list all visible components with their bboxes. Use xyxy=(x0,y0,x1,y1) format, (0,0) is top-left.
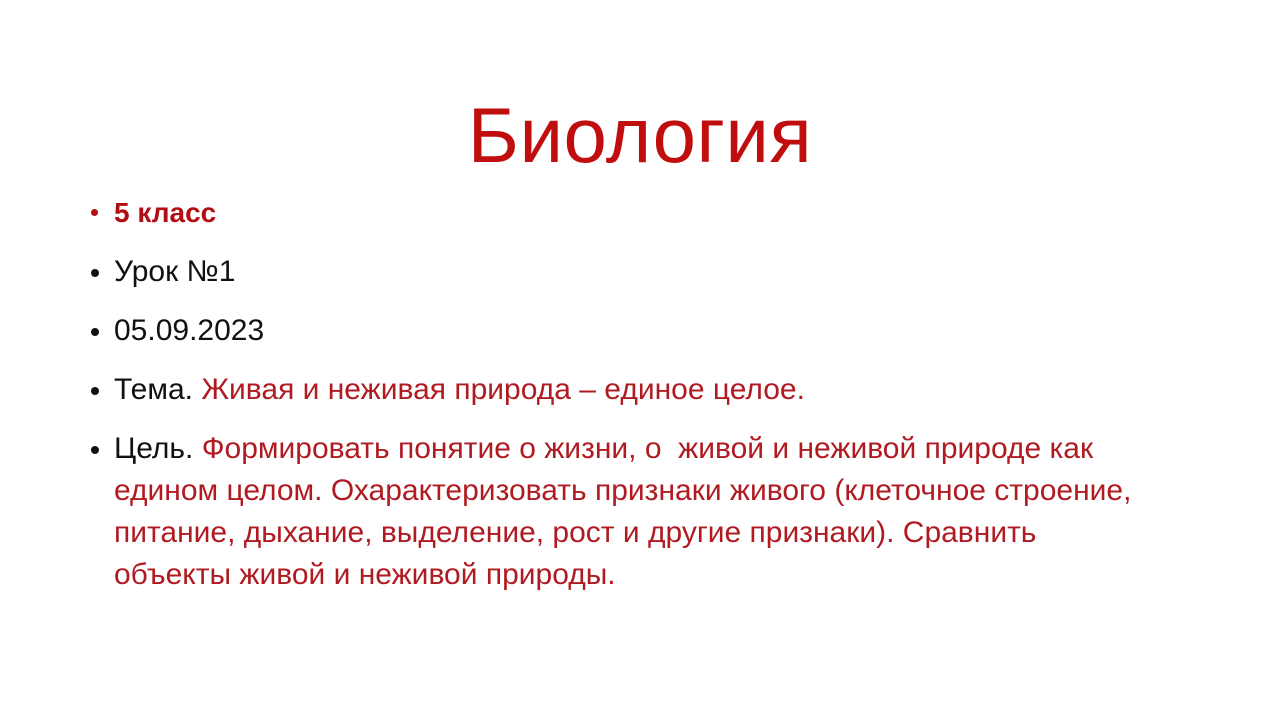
list-item-label: Тема. xyxy=(114,373,193,406)
list-item-text: Формировать понятие о жизни, о живой и н… xyxy=(114,432,1140,591)
bullet-dot-icon xyxy=(91,387,99,395)
list-item-text: 05.09.2023 xyxy=(114,314,264,347)
list-item-grade: 5 класс xyxy=(84,192,1194,234)
list-item-text: Живая и неживая природа – единое целое. xyxy=(201,373,805,406)
list-item-text: Урок №1 xyxy=(114,255,235,288)
list-item-text: 5 класс xyxy=(114,197,216,228)
list-item-label: Цель. xyxy=(114,432,193,465)
list-item-topic: Тема. Живая и неживая природа – единое ц… xyxy=(84,369,1194,411)
bullet-dot-icon xyxy=(91,328,99,336)
list-item-goal: Цель. Формировать понятие о жизни, о жив… xyxy=(84,428,1194,596)
page-title: Биология xyxy=(0,96,1280,174)
bullet-dot-icon xyxy=(91,269,99,277)
bullet-list: 5 класс Урок №1 05.09.2023 Тема. Живая и… xyxy=(84,192,1194,596)
list-item-date: 05.09.2023 xyxy=(84,310,1194,352)
list-item-lesson: Урок №1 xyxy=(84,251,1194,293)
presentation-slide: Биология 5 класс Урок №1 05.09.2023 Тема… xyxy=(0,0,1280,720)
bullet-dot-icon xyxy=(91,209,98,216)
bullet-dot-icon xyxy=(91,446,99,454)
